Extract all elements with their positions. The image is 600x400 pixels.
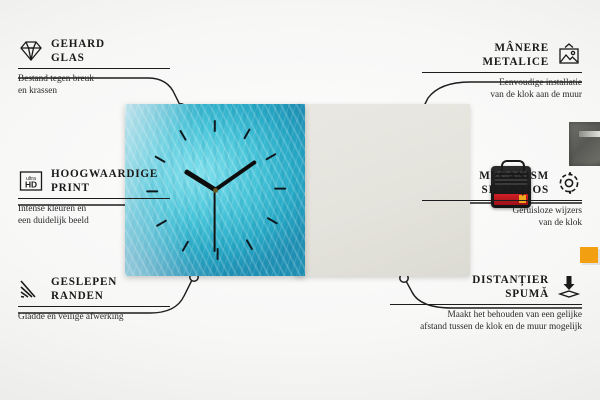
foam-spacer [580,247,598,263]
callout-distantier-spuma: DISTANȚIER SPUMĂ Maakt het behouden van … [390,274,582,333]
callout-desc: Bestand tegen breuk en krassen [18,73,178,97]
callout-gehard-glas: GEHARD GLAS Bestand tegen breuk en krass… [18,38,178,97]
callout-desc: Geruisloze wijzers van de klok [422,205,582,229]
ultra-hd-icon: ultra HD [18,168,44,194]
callout-manere-metalice: MÂNERE METALICE Eenvoudige installatie v… [422,42,582,101]
callout-mecanism-silentios: MECANISM SILENȚIOS Geruisloze wijzers va… [422,170,582,229]
callout-title: DISTANȚIER SPUMĂ [472,274,549,301]
second-hand [214,190,216,252]
infographic-stage: GEHARD GLAS Bestand tegen breuk en krass… [0,0,600,400]
clock-tick [216,248,218,260]
metal-hanger-plate [569,122,600,166]
callout-title: HOOGWAARDIGE PRINT [51,168,158,195]
callout-rule [422,200,582,201]
callout-title: GEHARD GLAS [51,38,105,65]
svg-text:HD: HD [25,180,37,190]
callout-title: MECANISM SILENȚIOS [479,170,549,197]
arrow-down-layers-icon [556,274,582,300]
callout-rule [18,198,170,199]
callout-rule [18,306,170,307]
clock-tick [243,128,251,140]
hands-pin [213,188,218,193]
callout-desc: Intense kleuren en een duidelijk beeld [18,203,178,227]
diamond-icon [18,38,44,64]
callout-title: GESLEPEN RANDEN [51,276,117,303]
hanger-slot [579,131,600,137]
callout-rule [18,68,170,69]
clock-tick [274,188,286,190]
callout-desc: Maakt het behouden van een gelijke afsta… [390,309,582,333]
clock-tick [265,153,277,161]
callout-hoogwaardige-print: ultra HD HOOGWAARDIGE PRINT Intense kleu… [18,168,178,227]
callout-desc: Eenvoudige installatie van de klok aan d… [422,77,582,101]
callout-desc: Gladde en veilige afwerking [18,311,178,323]
callout-rule [390,304,582,305]
callout-rule [422,72,582,73]
picture-frame-hook-icon [556,42,582,68]
clock-tick [245,239,253,251]
callout-geslepen-randen: GESLEPEN RANDEN Gladde en veilige afwerk… [18,276,178,323]
gear-icon [556,170,582,196]
diagonal-lines-icon [18,276,44,302]
clock-tick [266,217,278,225]
callout-title: MÂNERE METALICE [483,42,550,69]
